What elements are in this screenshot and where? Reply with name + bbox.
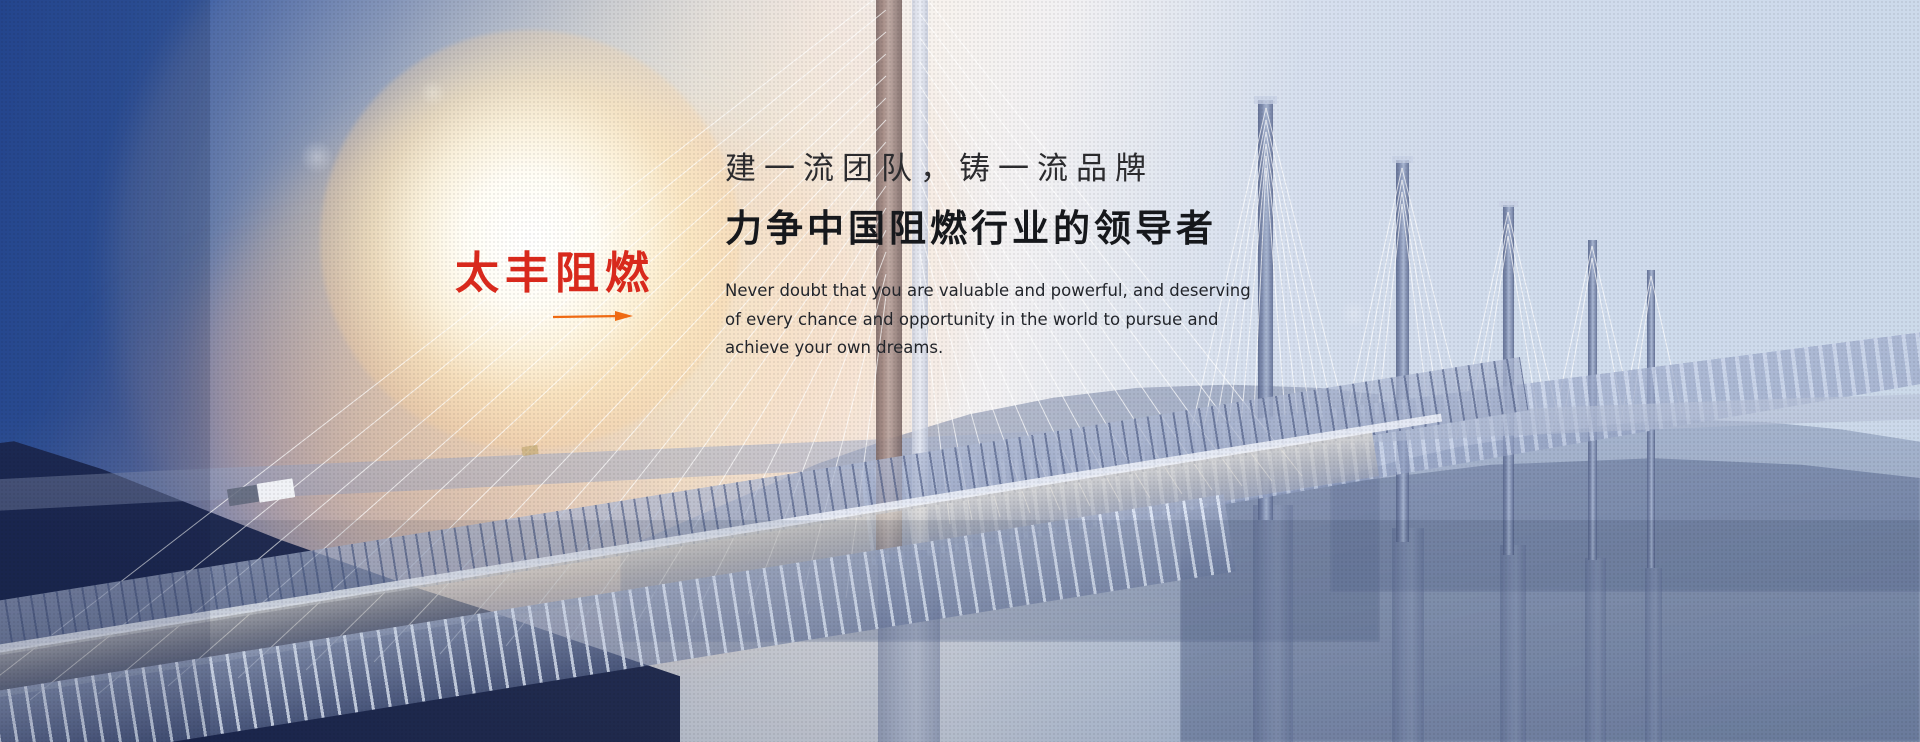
- subtext-line-2: of every chance and opportunity in the w…: [725, 306, 1345, 335]
- arrow-right-icon: [553, 310, 633, 324]
- brand-logo[interactable]: 太丰阻燃: [455, 252, 705, 296]
- headline-block: 建一流团队，铸一流品牌 力争中国阻燃行业的领导者 Never doubt tha…: [725, 150, 1345, 363]
- subtext-paragraph: Never doubt that you are valuable and po…: [725, 277, 1345, 363]
- subtext-line-3: achieve your own dreams.: [725, 334, 1345, 363]
- banner-content: 太丰阻燃 建一流团队，铸一流品牌 力争中国阻燃行业的领导者 Never doub…: [0, 0, 1920, 742]
- headline-secondary: 力争中国阻燃行业的领导者: [725, 205, 1345, 253]
- subtext-line-1: Never doubt that you are valuable and po…: [725, 277, 1345, 306]
- hero-banner: 太丰阻燃 建一流团队，铸一流品牌 力争中国阻燃行业的领导者 Never doub…: [0, 0, 1920, 742]
- brand-logo-text: 太丰阻燃: [455, 252, 705, 296]
- headline-primary: 建一流团队，铸一流品牌: [725, 150, 1345, 189]
